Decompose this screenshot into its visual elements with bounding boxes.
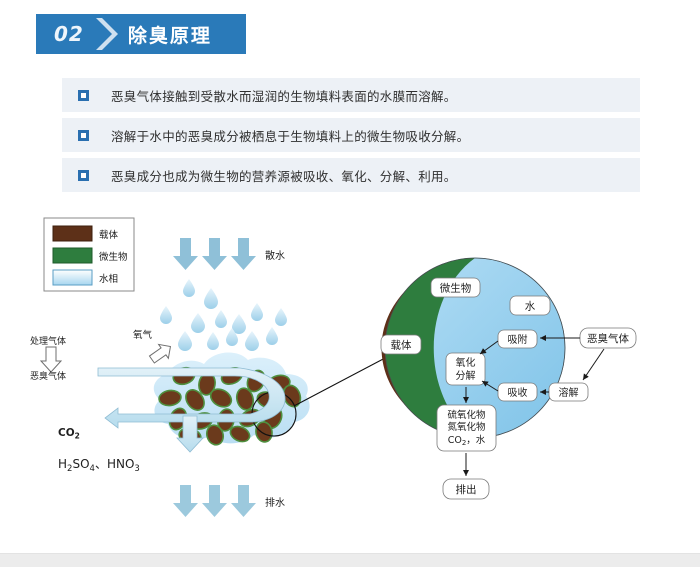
label-box-microbe: 微生物 <box>431 278 480 297</box>
bullet-row-3: 恶臭成分也成为微生物的营养源被吸收、氧化、分解、利用。 <box>62 158 640 192</box>
bullet-text-2: 溶解于水中的恶臭成分被栖息于生物填料上的微生物吸收分解。 <box>111 126 469 145</box>
label-box-carrier: 载体 <box>381 335 421 354</box>
legend-label-carrier: 载体 <box>99 229 119 241</box>
section-header-banner: 02 除臭原理 <box>36 14 246 54</box>
label-box-oxidative-decomposition: 氧化 分解 <box>446 353 485 385</box>
spray-arrows-group: 散水 <box>173 238 285 270</box>
deodorization-principle-diagram: 载体 微生物 水相 散水 <box>0 208 700 538</box>
bullet-text-1: 恶臭气体接触到受散水而湿润的生物填料表面的水膜而溶解。 <box>111 86 457 105</box>
svg-text:CO2，水: CO2，水 <box>448 434 486 447</box>
label-odor-gas-inlet: 恶臭气体 <box>30 370 66 382</box>
label-treated-gas: 处理气体 <box>30 335 66 347</box>
legend-label-waterphase: 水相 <box>99 273 118 285</box>
label-oxygen: 氧气 <box>133 329 153 341</box>
principle-bullet-list: 恶臭气体接触到受散水而湿润的生物填料表面的水膜而溶解。 溶解于水中的恶臭成分被栖… <box>62 78 640 198</box>
spray-label: 散水 <box>265 249 285 262</box>
section-number: 02 <box>54 22 84 46</box>
diagram-legend: 载体 微生物 水相 <box>44 218 134 291</box>
drain-label: 排水 <box>265 496 285 509</box>
label-co2: CO2 <box>58 427 80 441</box>
bullet-row-1: 恶臭气体接触到受散水而湿润的生物填料表面的水膜而溶解。 <box>62 78 640 112</box>
label-box-products: 硫氧化物 氮氧化物 CO2，水 <box>437 405 496 451</box>
inlet-gas-arrow <box>41 347 61 372</box>
svg-text:排出: 排出 <box>456 483 477 496</box>
bullet-text-3: 恶臭成分也成为微生物的营养源被吸收、氧化、分解、利用。 <box>111 166 457 185</box>
svg-text:水: 水 <box>525 301 536 313</box>
svg-text:吸附: 吸附 <box>508 333 528 346</box>
oxygen-arrow <box>148 343 170 365</box>
label-box-odor-gas: 恶臭气体 <box>580 328 636 348</box>
svg-text:吸收: 吸收 <box>508 386 528 399</box>
bullet-row-2: 溶解于水中的恶臭成分被栖息于生物填料上的微生物吸收分解。 <box>62 118 640 152</box>
chevron-right-icon <box>92 14 118 54</box>
footer-bar <box>0 553 700 567</box>
svg-text:溶解: 溶解 <box>559 386 579 399</box>
label-box-water: 水 <box>510 296 550 315</box>
svg-text:恶臭气体: 恶臭气体 <box>587 332 629 345</box>
square-bullet-icon <box>78 90 89 101</box>
drain-arrows-group: 排水 <box>173 485 285 517</box>
label-box-absorb: 吸收 <box>498 383 537 401</box>
label-acids: H2SO4、HNO3 <box>58 457 140 474</box>
svg-text:氮氧化物: 氮氧化物 <box>447 421 486 433</box>
svg-text:硫氧化物: 硫氧化物 <box>447 409 486 421</box>
water-droplets-group <box>160 279 287 351</box>
square-bullet-icon <box>78 130 89 141</box>
svg-text:载体: 载体 <box>391 340 412 352</box>
label-box-adsorb: 吸附 <box>498 330 537 348</box>
label-box-discharge: 排出 <box>443 479 489 499</box>
svg-text:微生物: 微生物 <box>440 282 472 295</box>
section-title: 除臭原理 <box>128 21 212 48</box>
square-bullet-icon <box>78 170 89 181</box>
label-box-dissolve: 溶解 <box>549 383 588 401</box>
svg-text:氧化: 氧化 <box>456 356 476 369</box>
magnifier-connector-line <box>294 358 385 406</box>
legend-label-microbe: 微生物 <box>99 251 128 263</box>
svg-text:分解: 分解 <box>456 369 476 382</box>
